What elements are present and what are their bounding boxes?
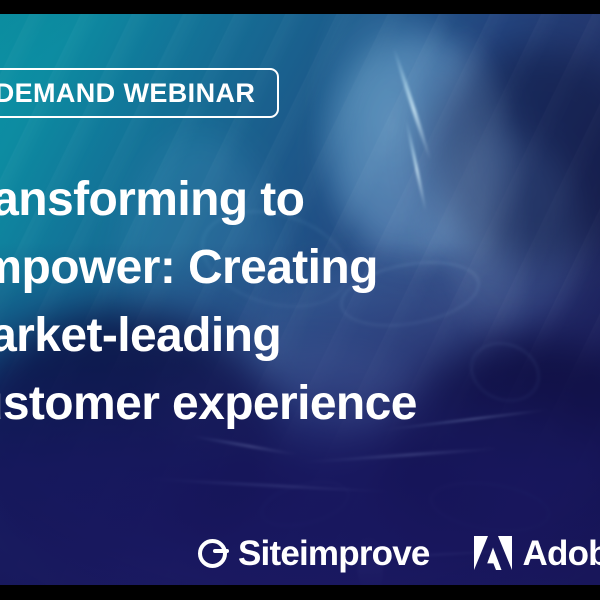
logo-strip: Siteimprove Adobe v xyxy=(0,522,600,584)
adobe-a-icon xyxy=(474,536,512,570)
adobe-logo: Adobe xyxy=(474,536,600,571)
adobe-wordmark: Adobe xyxy=(523,536,600,571)
page-title: Transforming to Empower: Creating market… xyxy=(0,166,588,438)
letterbox-bar-bottom xyxy=(0,585,600,600)
artwork-background: ON-DEMAND WEBINAR Transforming to Empowe… xyxy=(0,14,600,585)
letterbox-bar-top xyxy=(0,0,600,14)
headline-line-1: Transforming to xyxy=(0,166,588,234)
headline-line-4: customer experience xyxy=(0,370,588,438)
headline-line-3: market-leading xyxy=(0,302,588,370)
siteimprove-wordmark: Siteimprove xyxy=(238,536,430,571)
siteimprove-logo: Siteimprove xyxy=(198,536,430,571)
badge-label: ON-DEMAND WEBINAR xyxy=(0,80,255,107)
promo-card: ON-DEMAND WEBINAR Transforming to Empowe… xyxy=(0,0,600,600)
headline-line-2: Empower: Creating xyxy=(0,234,588,302)
on-demand-webinar-badge: ON-DEMAND WEBINAR xyxy=(0,68,279,118)
siteimprove-circle-icon xyxy=(198,539,227,568)
